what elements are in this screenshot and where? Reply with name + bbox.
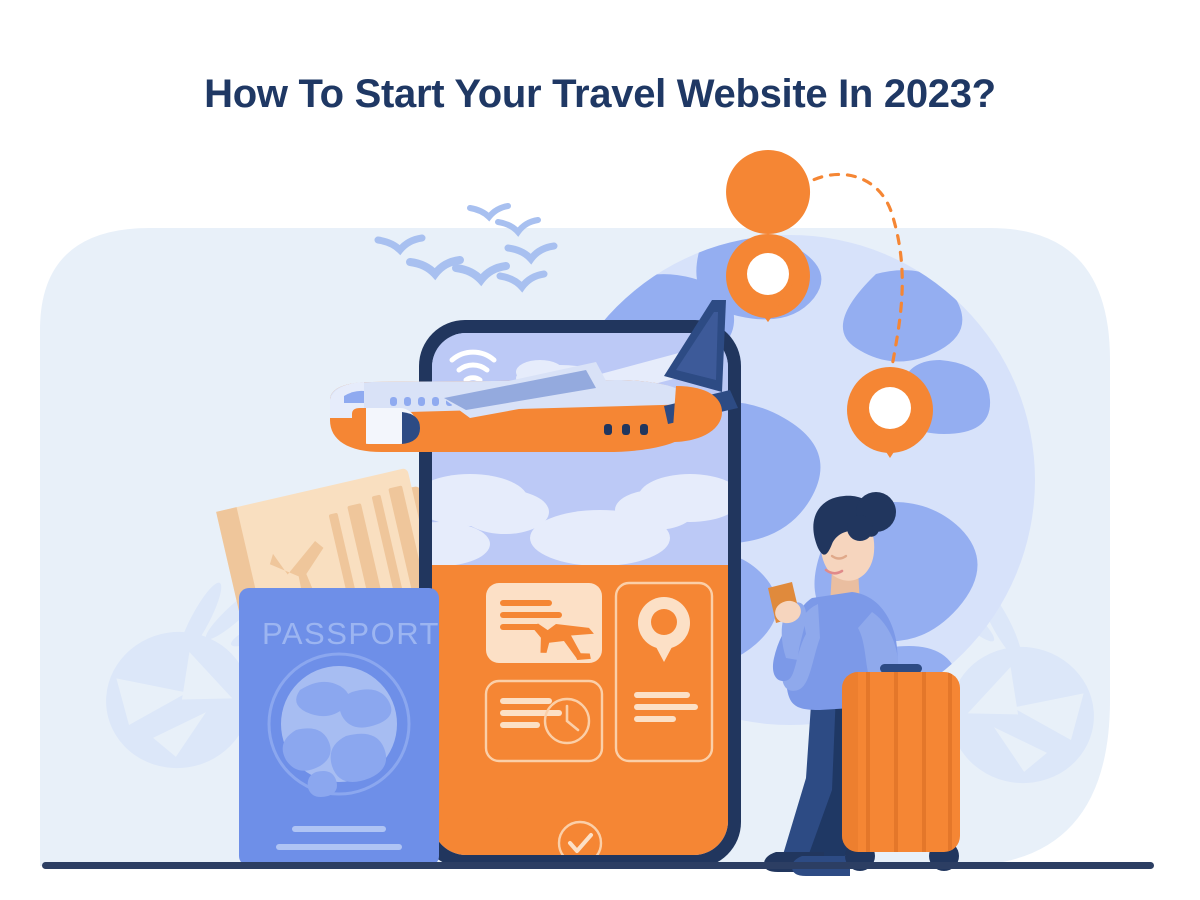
rolling-suitcase[interactable] <box>842 664 960 871</box>
travel-illustration-svg: PASSPORT <box>0 0 1200 900</box>
globe-emblem <box>269 654 409 797</box>
ground-line <box>42 862 1154 869</box>
flight-card[interactable] <box>486 583 602 670</box>
passport[interactable]: PASSPORT <box>239 588 440 866</box>
suitcase-handle <box>880 664 922 673</box>
engine <box>352 408 420 444</box>
passport-line <box>292 826 386 832</box>
passport-label: PASSPORT <box>262 616 440 651</box>
passport-line <box>276 844 402 850</box>
hero-illustration: PASSPORT <box>0 0 1200 900</box>
page-canvas: How To Start Your Travel Website In 2023… <box>0 0 1200 900</box>
